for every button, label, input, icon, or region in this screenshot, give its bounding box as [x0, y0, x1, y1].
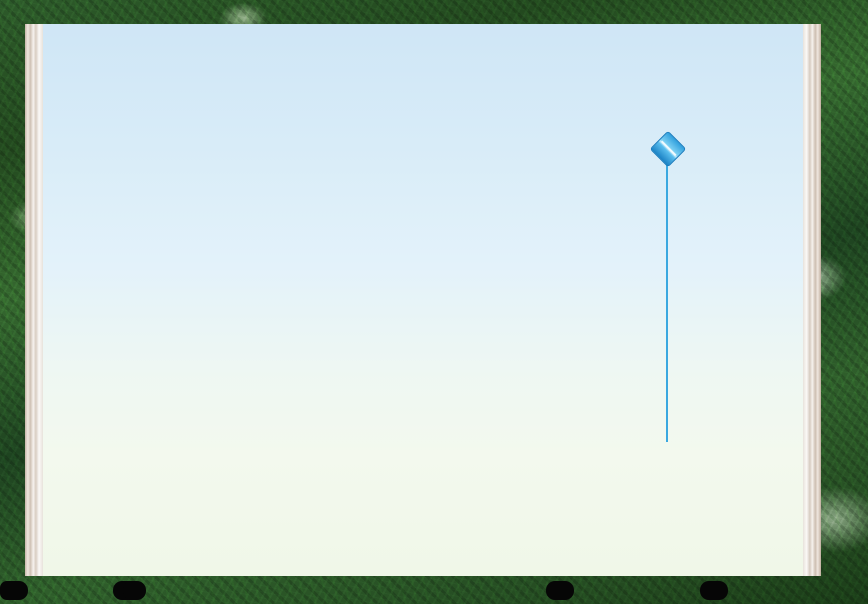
- kite-scroll-handle[interactable]: [650, 131, 687, 168]
- previous-page-button[interactable]: [546, 581, 574, 600]
- bottom-toolbar: [0, 578, 868, 604]
- next-page-button[interactable]: [700, 581, 728, 600]
- contents-button[interactable]: [123, 581, 146, 600]
- book-spread: [25, 24, 821, 576]
- page-edge-left: [25, 24, 43, 576]
- top-toolbar: [0, 0, 868, 26]
- foliage-illustration: [43, 386, 803, 576]
- page-edge-right: [803, 24, 821, 576]
- page-canvas[interactable]: [43, 24, 803, 576]
- kite-scrollbar[interactable]: [647, 132, 687, 442]
- site-watermark: [640, 579, 868, 604]
- flipbook-window: [0, 0, 868, 604]
- volume-slider[interactable]: [0, 581, 14, 600]
- kite-string: [666, 150, 668, 442]
